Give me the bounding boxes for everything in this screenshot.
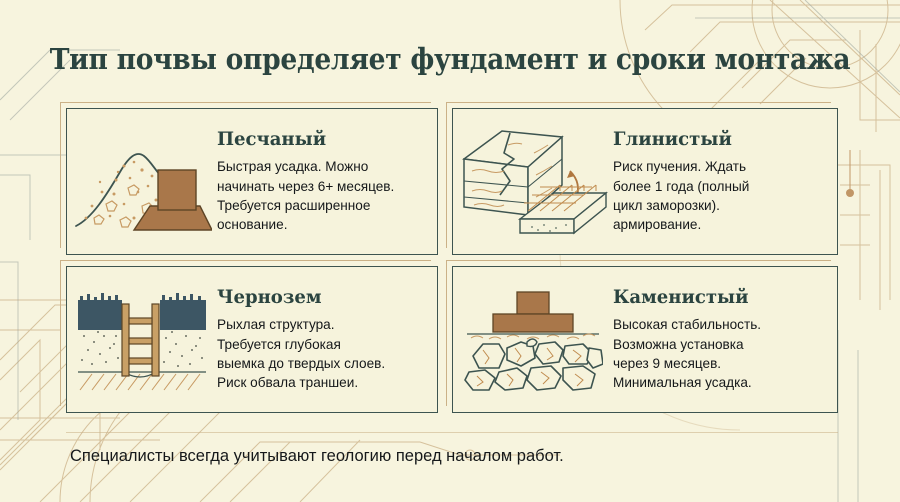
card-rocky[interactable]: Каменистый Высокая стабильность. Возможн… — [452, 266, 838, 413]
card-body: Риск пучения. Ждать более 1 года (полный… — [613, 157, 827, 234]
cards-grid: Песчаный Быстрая усадка. Можно начинать … — [66, 108, 838, 413]
footer-divider — [66, 432, 838, 433]
card-text: Чернозем Рыхлая структура. Требуется глу… — [217, 286, 437, 392]
card-body: Высокая стабильность. Возможна установка… — [613, 315, 827, 392]
infographic-page: Тип почвы определяет фундамент и сроки м… — [0, 0, 900, 502]
card-body: Быстрая усадка. Можно начинать через 6+ … — [217, 157, 427, 234]
trench-ladder-soil-layers-icon — [67, 286, 217, 394]
card-title: Глинистый — [613, 128, 816, 150]
stone-bed-foundation-icon — [453, 284, 613, 396]
card-text: Каменистый Высокая стабильность. Возможн… — [613, 286, 837, 392]
card-text: Глинистый Риск пучения. Ждать более 1 го… — [613, 128, 837, 234]
card-body: Рыхлая структура. Требуется глубокая вые… — [217, 315, 427, 392]
sand-pile-foundation-icon — [67, 126, 217, 238]
cracked-clay-block-slab-icon — [453, 123, 613, 241]
card-chernozem[interactable]: Чернозем Рыхлая структура. Требуется глу… — [66, 266, 438, 413]
footer-note: Специалисты всегда учитывают геологию пе… — [70, 447, 564, 466]
card-text: Песчаный Быстрая усадка. Можно начинать … — [217, 128, 437, 234]
card-title: Каменистый — [613, 286, 816, 308]
card-clay[interactable]: Глинистый Риск пучения. Ждать более 1 го… — [452, 108, 838, 255]
card-title: Песчаный — [217, 128, 417, 150]
page-title: Тип почвы определяет фундамент и сроки м… — [32, 42, 869, 76]
card-title: Чернозем — [217, 286, 417, 308]
card-sandy[interactable]: Песчаный Быстрая усадка. Можно начинать … — [66, 108, 438, 255]
